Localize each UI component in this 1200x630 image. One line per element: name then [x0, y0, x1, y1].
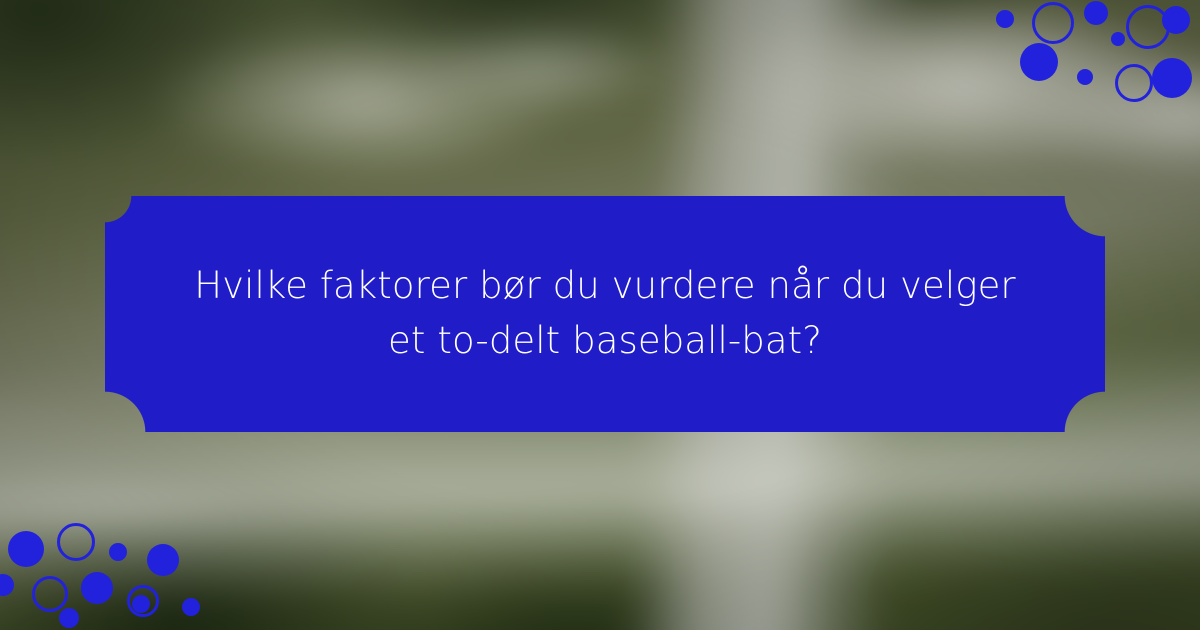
decorative-dot-ring — [127, 585, 159, 617]
decorative-dot-filled — [1084, 1, 1108, 25]
decorative-dot-ring — [1115, 64, 1153, 102]
decorative-dot-ring — [57, 523, 95, 561]
page-title: Hvilke faktorer bør du vurdere når du ve… — [175, 259, 1035, 369]
decorative-dot-filled — [1162, 6, 1190, 34]
headline-card: Hvilke faktorer bør du vurdere når du ve… — [105, 196, 1105, 432]
decorative-dot-filled — [109, 543, 127, 561]
headline-card-inner: Hvilke faktorer bør du vurdere når du ve… — [175, 259, 1035, 369]
decorative-dot-ring — [32, 576, 68, 612]
decorative-dot-filled — [147, 544, 179, 576]
decorative-dot-filled — [59, 608, 79, 628]
decorative-dot-filled — [182, 598, 200, 616]
decorative-dot-filled — [1020, 43, 1058, 81]
decorative-dot-filled — [1111, 32, 1125, 46]
social-card-canvas: Hvilke faktorer bør du vurdere når du ve… — [0, 0, 1200, 630]
decorative-dot-filled — [81, 572, 113, 604]
decorative-dot-filled — [996, 10, 1014, 28]
decorative-dot-filled — [8, 531, 44, 567]
decorative-dot-filled — [1152, 58, 1192, 98]
decorative-dot-ring — [1032, 2, 1074, 44]
decorative-dot-filled — [1077, 69, 1093, 85]
